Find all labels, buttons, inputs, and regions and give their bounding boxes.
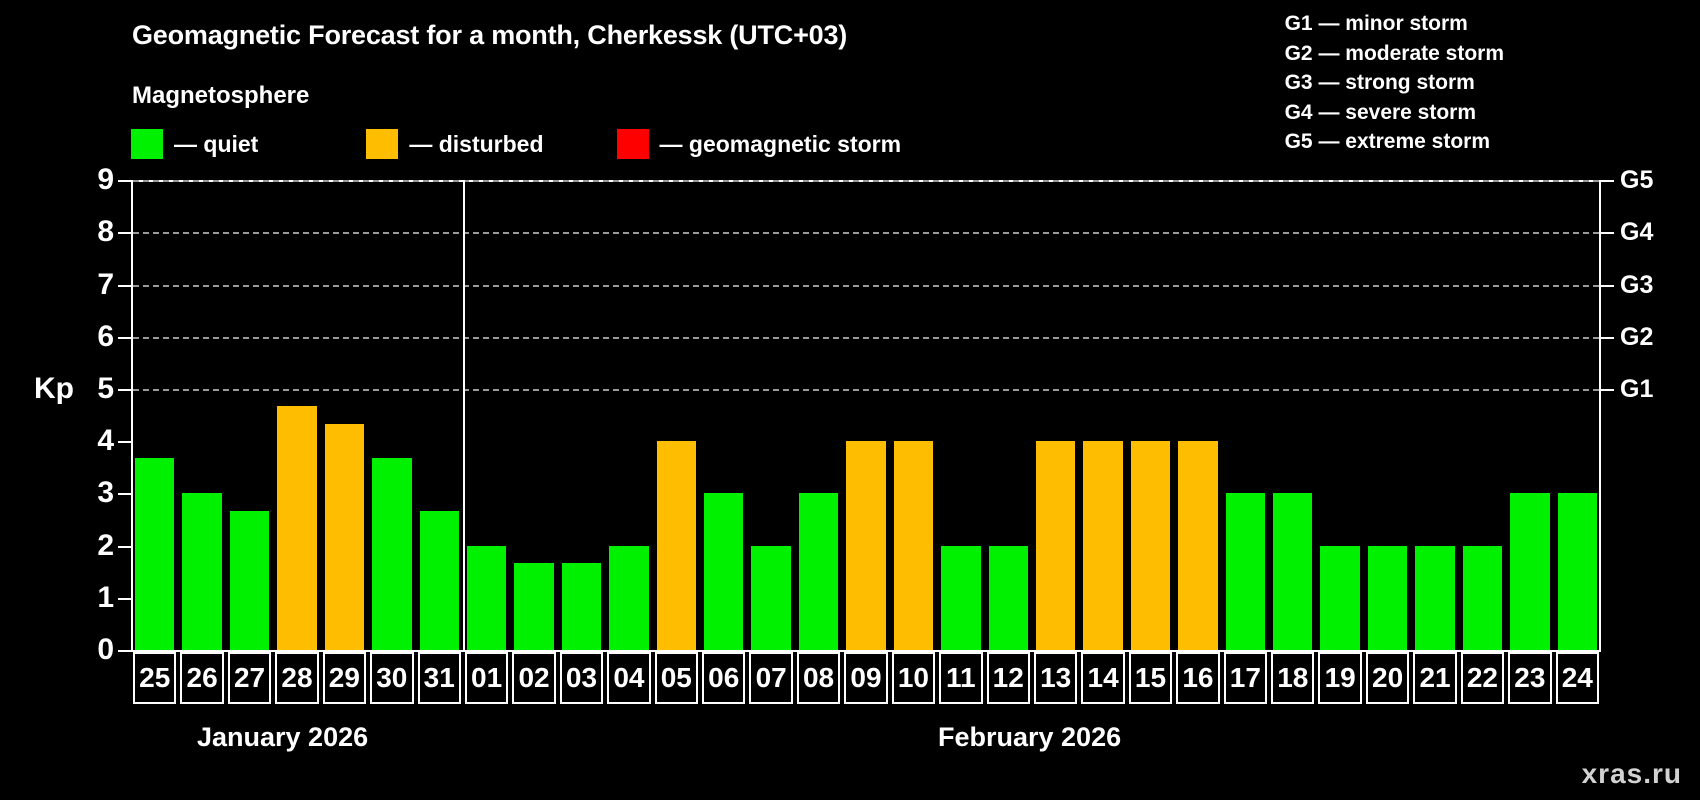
date-cell-04: 04 [607, 652, 650, 704]
bar-day-26 [182, 493, 221, 650]
bar-day-29 [325, 424, 364, 650]
y-label-1: 1 [97, 583, 114, 613]
y-label-6: 6 [97, 322, 114, 352]
bar-day-23 [1510, 493, 1549, 650]
gscale-legend: G1 — minor stormG2 — moderate stormG3 — … [1285, 9, 1504, 157]
date-cell-08: 08 [797, 652, 840, 704]
y-tick-7 [118, 285, 131, 287]
bar-day-14 [1083, 441, 1122, 650]
date-cell-27: 27 [228, 652, 271, 704]
legend-entry-disturbed: — disturbed [366, 129, 543, 159]
y-tick-2 [118, 546, 131, 548]
g-axis-ticks [1601, 180, 1614, 652]
date-cell-10: 10 [892, 652, 935, 704]
gscale-row-g2: G2 — moderate storm [1285, 39, 1504, 69]
bar-day-15 [1131, 441, 1170, 650]
y-label-9: 9 [97, 165, 114, 195]
g-tick-g2 [1601, 337, 1614, 339]
date-axis: 2526272829303101020304050607080910111213… [131, 652, 1601, 706]
date-cell-09: 09 [844, 652, 887, 704]
g-label-g2: G2 [1620, 325, 1653, 350]
date-cell-12: 12 [987, 652, 1030, 704]
gscale-row-g3: G3 — strong storm [1285, 68, 1504, 98]
date-cell-24: 24 [1556, 652, 1599, 704]
date-cell-20: 20 [1366, 652, 1409, 704]
bar-day-02 [514, 563, 553, 650]
date-cell-21: 21 [1413, 652, 1456, 704]
date-cell-01: 01 [465, 652, 508, 704]
date-cell-26: 26 [180, 652, 223, 704]
g-label-g4: G4 [1620, 220, 1653, 245]
date-cell-18: 18 [1271, 652, 1314, 704]
date-cell-11: 11 [939, 652, 982, 704]
legend-swatch-disturbed [366, 129, 398, 159]
bar-day-11 [941, 546, 980, 650]
y-label-5: 5 [97, 374, 114, 404]
bar-day-20 [1368, 546, 1407, 650]
y-tick-9 [118, 180, 131, 182]
month-caption-january: January 2026 [197, 722, 368, 753]
y-tick-4 [118, 441, 131, 443]
bar-day-05 [657, 441, 696, 650]
bar-day-30 [372, 458, 411, 650]
bar-day-18 [1273, 493, 1312, 650]
g-label-g3: G3 [1620, 273, 1653, 298]
bar-day-10 [894, 441, 933, 650]
y-tick-5 [118, 389, 131, 391]
bars-layer [131, 180, 1601, 650]
date-cell-05: 05 [655, 652, 698, 704]
bar-day-19 [1320, 546, 1359, 650]
y-axis-ticks [118, 180, 131, 652]
y-tick-8 [118, 232, 131, 234]
activity-legend: — quiet— disturbed— geomagnetic storm [131, 129, 901, 159]
date-cell-22: 22 [1461, 652, 1504, 704]
y-tick-6 [118, 337, 131, 339]
legend-label-geomagnetic-storm: — geomagnetic storm [660, 131, 902, 158]
watermark: xras.ru [1582, 758, 1682, 790]
bar-day-04 [609, 546, 648, 650]
date-cell-07: 07 [749, 652, 792, 704]
bar-day-21 [1415, 546, 1454, 650]
g-tick-g1 [1601, 389, 1614, 391]
bar-day-22 [1463, 546, 1502, 650]
y-axis-labels: 0123456789 [60, 170, 114, 660]
date-cell-15: 15 [1129, 652, 1172, 704]
date-cell-31: 31 [418, 652, 461, 704]
g-tick-g4 [1601, 232, 1614, 234]
legend-label-quiet: — quiet [174, 131, 258, 158]
bar-day-03 [562, 563, 601, 650]
date-cell-16: 16 [1176, 652, 1219, 704]
bar-day-27 [230, 511, 269, 650]
legend-entry-quiet: — quiet [131, 129, 258, 159]
date-cell-06: 06 [702, 652, 745, 704]
y-label-3: 3 [97, 478, 114, 508]
y-tick-0 [118, 650, 131, 652]
legend-swatch-quiet [131, 129, 163, 159]
bar-day-09 [846, 441, 885, 650]
magnetosphere-label: Magnetosphere [132, 82, 309, 110]
date-cell-30: 30 [370, 652, 413, 704]
bar-day-28 [277, 406, 316, 650]
gscale-row-g1: G1 — minor storm [1285, 9, 1504, 39]
date-cell-19: 19 [1318, 652, 1361, 704]
date-cell-25: 25 [133, 652, 176, 704]
bar-day-12 [989, 546, 1028, 650]
date-cell-02: 02 [512, 652, 555, 704]
bar-day-01 [467, 546, 506, 650]
legend-label-disturbed: — disturbed [409, 131, 543, 158]
date-cell-03: 03 [560, 652, 603, 704]
date-cell-13: 13 [1034, 652, 1077, 704]
y-label-8: 8 [97, 217, 114, 247]
bar-day-08 [799, 493, 838, 650]
bar-day-17 [1226, 493, 1265, 650]
month-caption-february: February 2026 [938, 722, 1121, 753]
y-label-4: 4 [97, 426, 114, 456]
bar-day-13 [1036, 441, 1075, 650]
date-cell-17: 17 [1224, 652, 1267, 704]
bar-day-31 [420, 511, 459, 650]
legend-entry-geomagnetic-storm: — geomagnetic storm [617, 129, 902, 159]
y-label-7: 7 [97, 270, 114, 300]
gscale-row-g5: G5 — extreme storm [1285, 127, 1504, 157]
bar-day-25 [135, 458, 174, 650]
kp-axis-title: Kp [34, 372, 74, 406]
bar-day-07 [751, 546, 790, 650]
bar-day-24 [1558, 493, 1597, 650]
g-tick-g3 [1601, 285, 1614, 287]
date-cell-14: 14 [1081, 652, 1124, 704]
page-title: Geomagnetic Forecast for a month, Cherke… [132, 20, 847, 51]
bar-day-16 [1178, 441, 1217, 650]
date-cell-23: 23 [1508, 652, 1551, 704]
g-tick-g5 [1601, 180, 1614, 182]
date-cell-28: 28 [275, 652, 318, 704]
date-cell-29: 29 [323, 652, 366, 704]
y-label-0: 0 [97, 635, 114, 665]
y-tick-1 [118, 598, 131, 600]
y-label-2: 2 [97, 531, 114, 561]
gscale-row-g4: G4 — severe storm [1285, 98, 1504, 128]
g-axis-labels: G1G2G3G4G5 [1620, 170, 1690, 660]
y-tick-3 [118, 493, 131, 495]
bar-day-06 [704, 493, 743, 650]
legend-swatch-geomagnetic-storm [617, 129, 649, 159]
g-label-g1: G1 [1620, 377, 1653, 402]
g-label-g5: G5 [1620, 168, 1653, 193]
